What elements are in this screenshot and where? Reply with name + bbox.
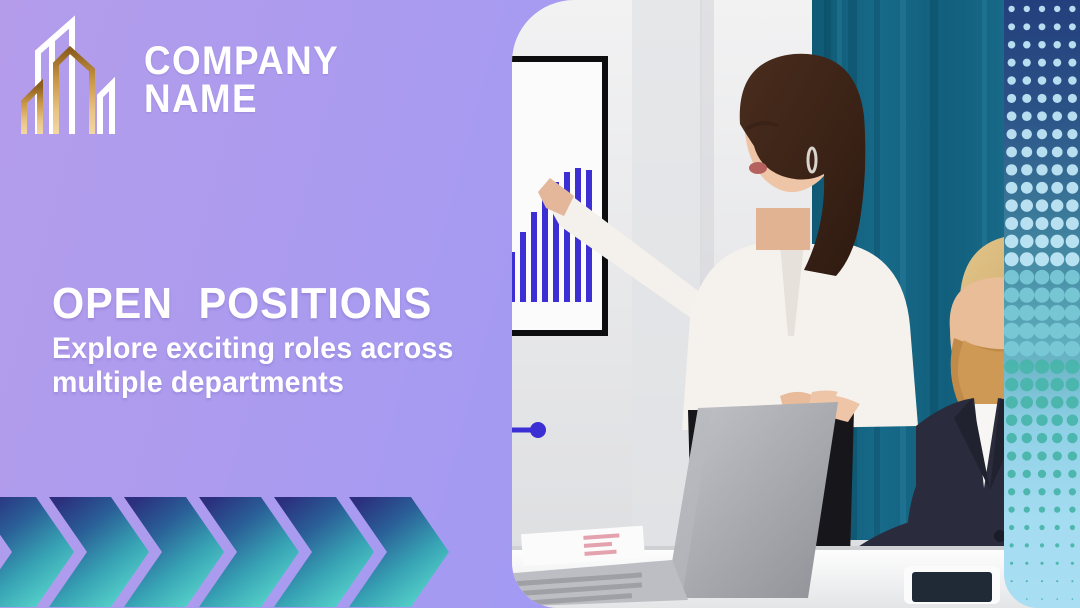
job-posting-banner: COMPANY NAME OPEN POSITIONS Explore exci… [0,0,1080,608]
chevron-decoration [0,483,458,608]
left-content-panel: COMPANY NAME OPEN POSITIONS Explore exci… [0,0,530,608]
brand-logo-row: COMPANY NAME [18,14,356,146]
headline-block: OPEN POSITIONS Explore exciting roles ac… [52,282,502,400]
halftone-dot-panel [1004,0,1080,608]
chevron-arrows-graphic [0,483,458,608]
building-outline-icon [18,14,136,146]
office-photo-illustration [512,0,1080,608]
company-name-line1: COMPANY [144,42,339,80]
company-name-text: COMPANY NAME [144,42,339,118]
page-subtitle: Explore exciting roles across multiple d… [52,332,499,400]
office-photo [512,0,1080,608]
company-name-line2: NAME [144,80,339,118]
page-title: OPEN POSITIONS [52,282,475,326]
smartphone [904,566,1000,604]
halftone-dots-graphic [1004,0,1080,608]
